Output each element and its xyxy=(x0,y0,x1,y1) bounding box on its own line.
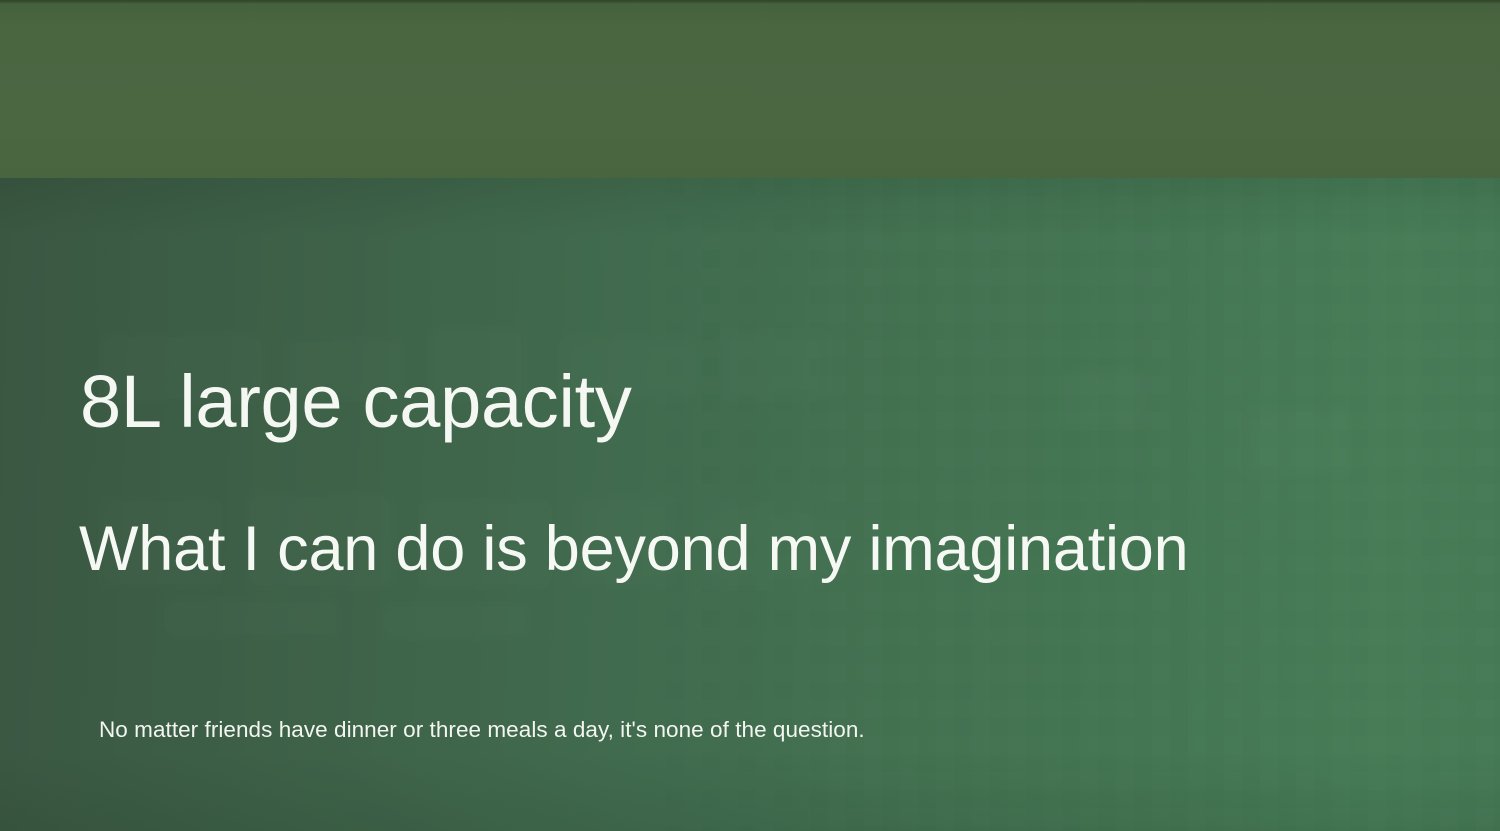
slide-headline: 8L large capacity xyxy=(80,365,632,439)
product-slide: 8L large capacity What I can do is beyon… xyxy=(0,0,1500,831)
slide-subheadline: What I can do is beyond my imagination xyxy=(79,518,1188,581)
slide-caption: No matter friends have dinner or three m… xyxy=(99,716,865,743)
slide-text-content: 8L large capacity What I can do is beyon… xyxy=(0,0,1500,831)
